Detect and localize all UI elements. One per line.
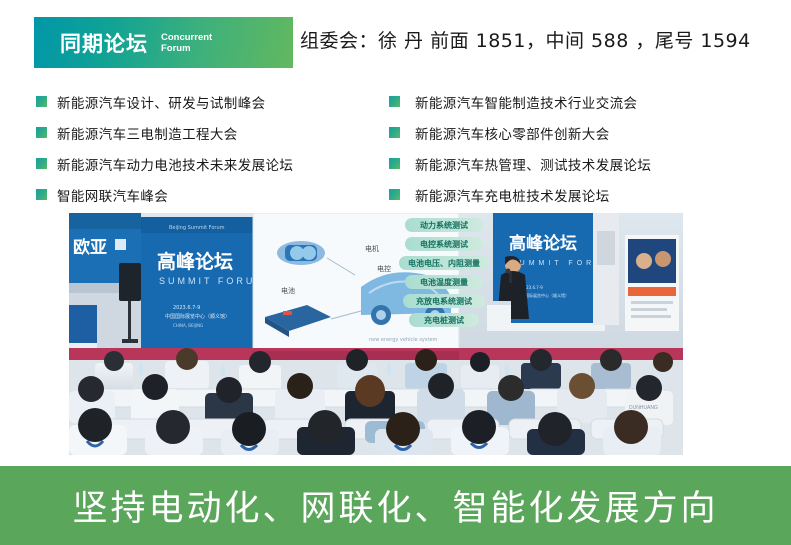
svg-text:SUMMIT FORUM: SUMMIT FORUM xyxy=(159,276,266,286)
svg-text:高峰论坛: 高峰论坛 xyxy=(509,233,577,254)
summit-forum-audience-photo: 欧亚 Beijing Summit Forum 高峰论坛 SUMMIT FORU… xyxy=(69,213,683,455)
list-item[interactable]: 新能源汽车三电制造工程大会 xyxy=(36,117,376,148)
list-item[interactable]: 新能源汽车核心零部件创新大会 xyxy=(389,117,739,148)
svg-text:动力系统测试: 动力系统测试 xyxy=(420,220,468,230)
svg-text:电池电压、内阻测量: 电池电压、内阻测量 xyxy=(408,258,480,268)
square-bullet-icon xyxy=(389,127,400,138)
list-item[interactable]: 新能源汽车设计、研发与试制峰会 xyxy=(36,86,376,117)
square-bullet-icon xyxy=(36,96,47,107)
photo-content: 欧亚 Beijing Summit Forum 高峰论坛 SUMMIT FORU… xyxy=(69,213,683,455)
svg-text:CHINA, BEIJING: CHINA, BEIJING xyxy=(173,323,203,328)
svg-text:2023.6.7-9: 2023.6.7-9 xyxy=(173,305,200,311)
forum-title: 新能源汽车三电制造工程大会 xyxy=(57,123,238,143)
forum-title: 智能网联汽车峰会 xyxy=(57,185,168,205)
svg-text:高峰论坛: 高峰论坛 xyxy=(157,250,233,273)
list-item[interactable]: 新能源汽车充电桩技术发展论坛 xyxy=(389,179,739,210)
forum-title: 新能源汽车充电桩技术发展论坛 xyxy=(415,185,610,205)
svg-text:Beijing Summit Forum: Beijing Summit Forum xyxy=(169,225,225,231)
banner-title-en: Concurrent Forum xyxy=(161,32,223,54)
slogan-text: 坚持电动化、网联化、智能化发展方向 xyxy=(72,480,718,531)
forum-title: 新能源汽车热管理、测试技术发展论坛 xyxy=(415,154,651,174)
banner-title-cn: 同期论坛 xyxy=(60,28,148,58)
svg-text:电池: 电池 xyxy=(281,286,295,295)
square-bullet-icon xyxy=(389,96,400,107)
svg-text:电池温度测量: 电池温度测量 xyxy=(420,277,468,287)
list-item[interactable]: 智能网联汽车峰会 xyxy=(36,179,376,210)
svg-text:电控: 电控 xyxy=(377,264,391,273)
forum-list-left: 新能源汽车设计、研发与试制峰会 新能源汽车三电制造工程大会 新能源汽车动力电池技… xyxy=(36,86,376,210)
svg-text:电控系统测试: 电控系统测试 xyxy=(420,239,468,249)
svg-text:DUNHUANG: DUNHUANG xyxy=(629,405,658,411)
square-bullet-icon xyxy=(389,158,400,169)
forum-title: 新能源汽车核心零部件创新大会 xyxy=(415,123,610,143)
forum-title: 新能源汽车设计、研发与试制峰会 xyxy=(57,92,266,112)
svg-text:new energy vehicle system: new energy vehicle system xyxy=(369,337,438,343)
svg-text:欧亚: 欧亚 xyxy=(73,237,107,258)
forum-title: 新能源汽车智能制造技术行业交流会 xyxy=(415,92,637,112)
forum-list-right: 新能源汽车智能制造技术行业交流会 新能源汽车核心零部件创新大会 新能源汽车热管理… xyxy=(389,86,739,210)
square-bullet-icon xyxy=(36,158,47,169)
square-bullet-icon xyxy=(36,189,47,200)
list-item[interactable]: 新能源汽车动力电池技术未来发展论坛 xyxy=(36,148,376,179)
svg-text:充放电系统测试: 充放电系统测试 xyxy=(416,296,472,306)
svg-text:充电桩测试: 充电桩测试 xyxy=(424,315,464,325)
square-bullet-icon xyxy=(389,189,400,200)
organizing-committee-note: 组委会：徐 丹 前面 1851，中间 588 ，尾号 1594 xyxy=(300,26,751,53)
svg-text:中国国际展览中心（顺义馆）: 中国国际展览中心（顺义馆） xyxy=(165,313,230,320)
square-bullet-icon xyxy=(36,127,47,138)
list-item[interactable]: 新能源汽车热管理、测试技术发展论坛 xyxy=(389,148,739,179)
concurrent-forum-banner: 同期论坛 Concurrent Forum xyxy=(34,17,293,68)
svg-text:电机: 电机 xyxy=(365,244,379,253)
list-item[interactable]: 新能源汽车智能制造技术行业交流会 xyxy=(389,86,739,117)
forum-title: 新能源汽车动力电池技术未来发展论坛 xyxy=(57,154,293,174)
bottom-slogan-banner: 坚持电动化、网联化、智能化发展方向 xyxy=(0,466,791,545)
